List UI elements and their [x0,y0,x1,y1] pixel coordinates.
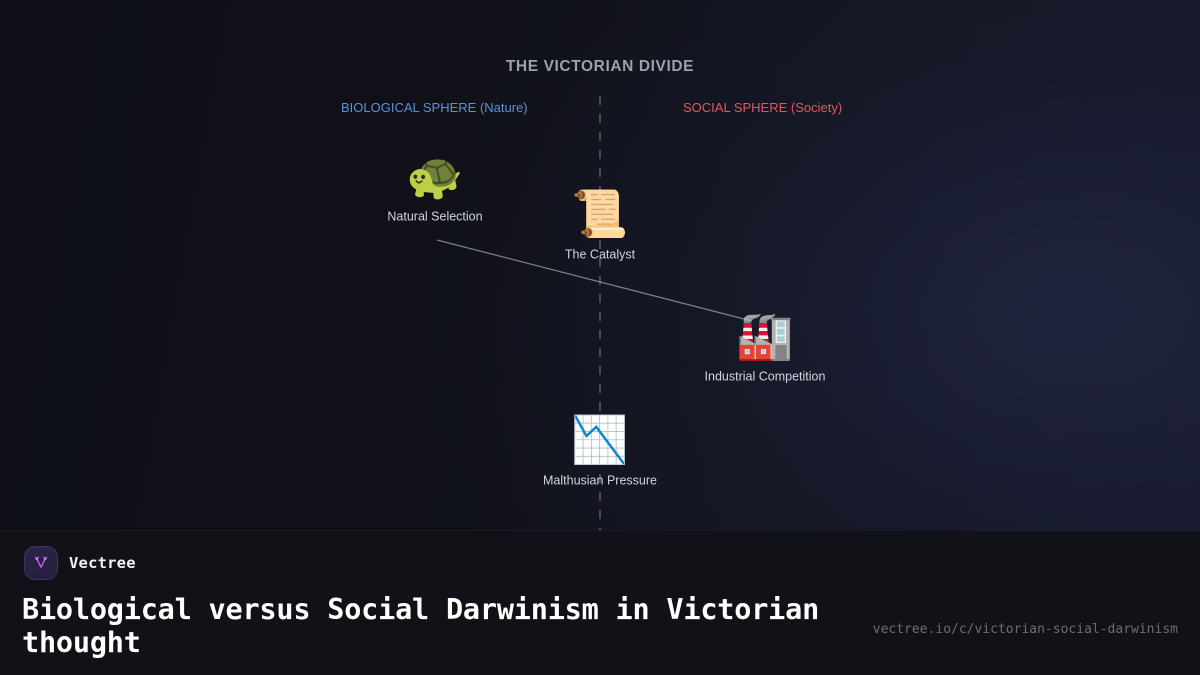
footer-url[interactable]: vectree.io/c/victorian-social-darwinism [873,622,1178,637]
factory-icon: 🏭 [736,309,793,363]
sphere-label-biological: BIOLOGICAL SPHERE (Nature) [341,100,528,115]
diagram-canvas[interactable]: THE VICTORIAN DIVIDE BIOLOGICAL SPHERE (… [0,0,1200,530]
vectree-logo-icon [24,546,58,580]
brand-row[interactable]: Vectree [24,546,136,580]
footer-bar: Vectree Biological versus Social Darwini… [0,530,1200,675]
node-label: The Catalyst [565,248,635,262]
node-label: Malthusian Pressure [543,474,657,488]
node-malthusian-pressure[interactable]: 📉 Malthusian Pressure [495,413,705,488]
headline-title: Biological versus Social Darwinism in Vi… [22,593,852,659]
node-the-catalyst[interactable]: 📜 The Catalyst [495,187,705,262]
node-industrial-competition[interactable]: 🏭 Industrial Competition [660,309,870,384]
sphere-label-social: SOCIAL SPHERE (Society) [683,100,842,115]
node-label: Industrial Competition [705,370,826,384]
scroll-icon: 📜 [571,187,628,241]
turtle-icon: 🐢 [406,149,463,203]
chart-decreasing-icon: 📉 [571,413,628,467]
node-label: Natural Selection [387,210,482,224]
brand-name: Vectree [69,554,136,572]
screenshot-root: THE VICTORIAN DIVIDE BIOLOGICAL SPHERE (… [0,0,1200,675]
diagram-title: THE VICTORIAN DIVIDE [0,58,1200,76]
